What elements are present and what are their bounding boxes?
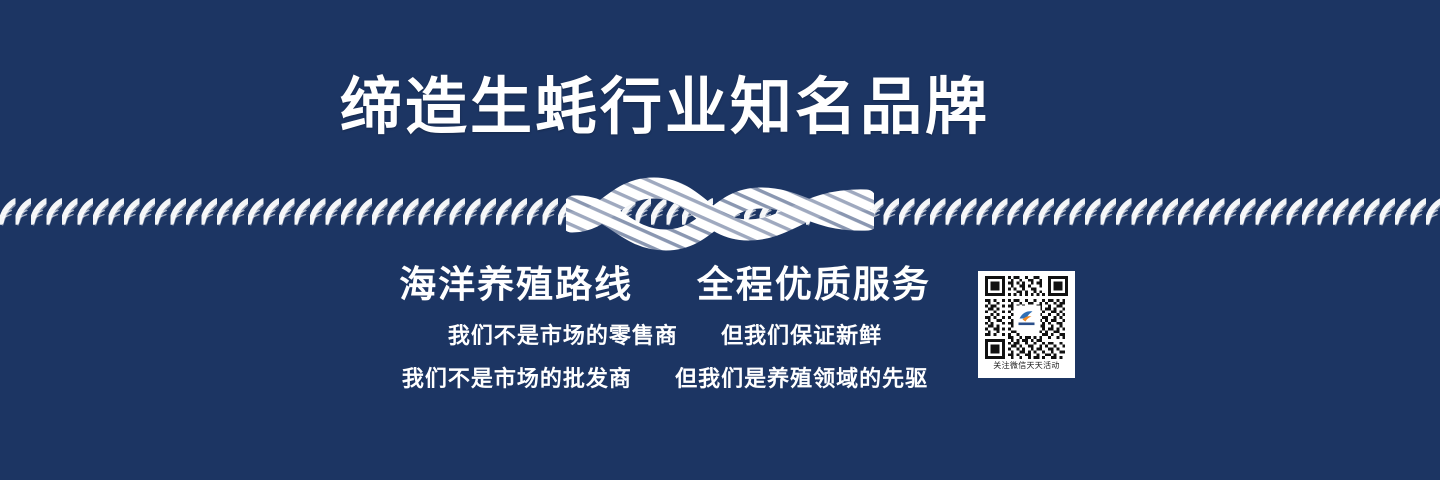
qr-code-card[interactable]: 关注微信天天活动 [978,271,1075,378]
rope-divider [0,168,1440,260]
qr-code-image[interactable] [983,276,1070,359]
body-line-2-left: 我们不是市场的批发商 [402,367,632,392]
sub-heading-left: 海洋养殖路线 [399,263,633,306]
body-line-1-left: 我们不是市场的零售商 [448,324,678,349]
rope-knot-icon [566,168,874,260]
promo-banner: 缔造生蚝行业知名品牌 [0,0,1440,480]
body-line-1: 我们不是市场的零售商 但我们保证新鲜 [0,322,1385,352]
brand-logo-icon [1013,305,1040,330]
body-line-2-right: 但我们是养殖领域的先驱 [675,367,928,392]
sub-heading: 海洋养殖路线 全程优质服务 [0,262,1385,308]
sub-heading-right: 全程优质服务 [697,263,931,306]
body-line-2: 我们不是市场的批发商 但我们是养殖领域的先驱 [0,365,1385,395]
qr-caption: 关注微信天天活动 [993,359,1059,372]
page-title: 缔造生蚝行业知名品牌 [0,70,1385,144]
body-line-1-right: 但我们保证新鲜 [721,324,882,349]
